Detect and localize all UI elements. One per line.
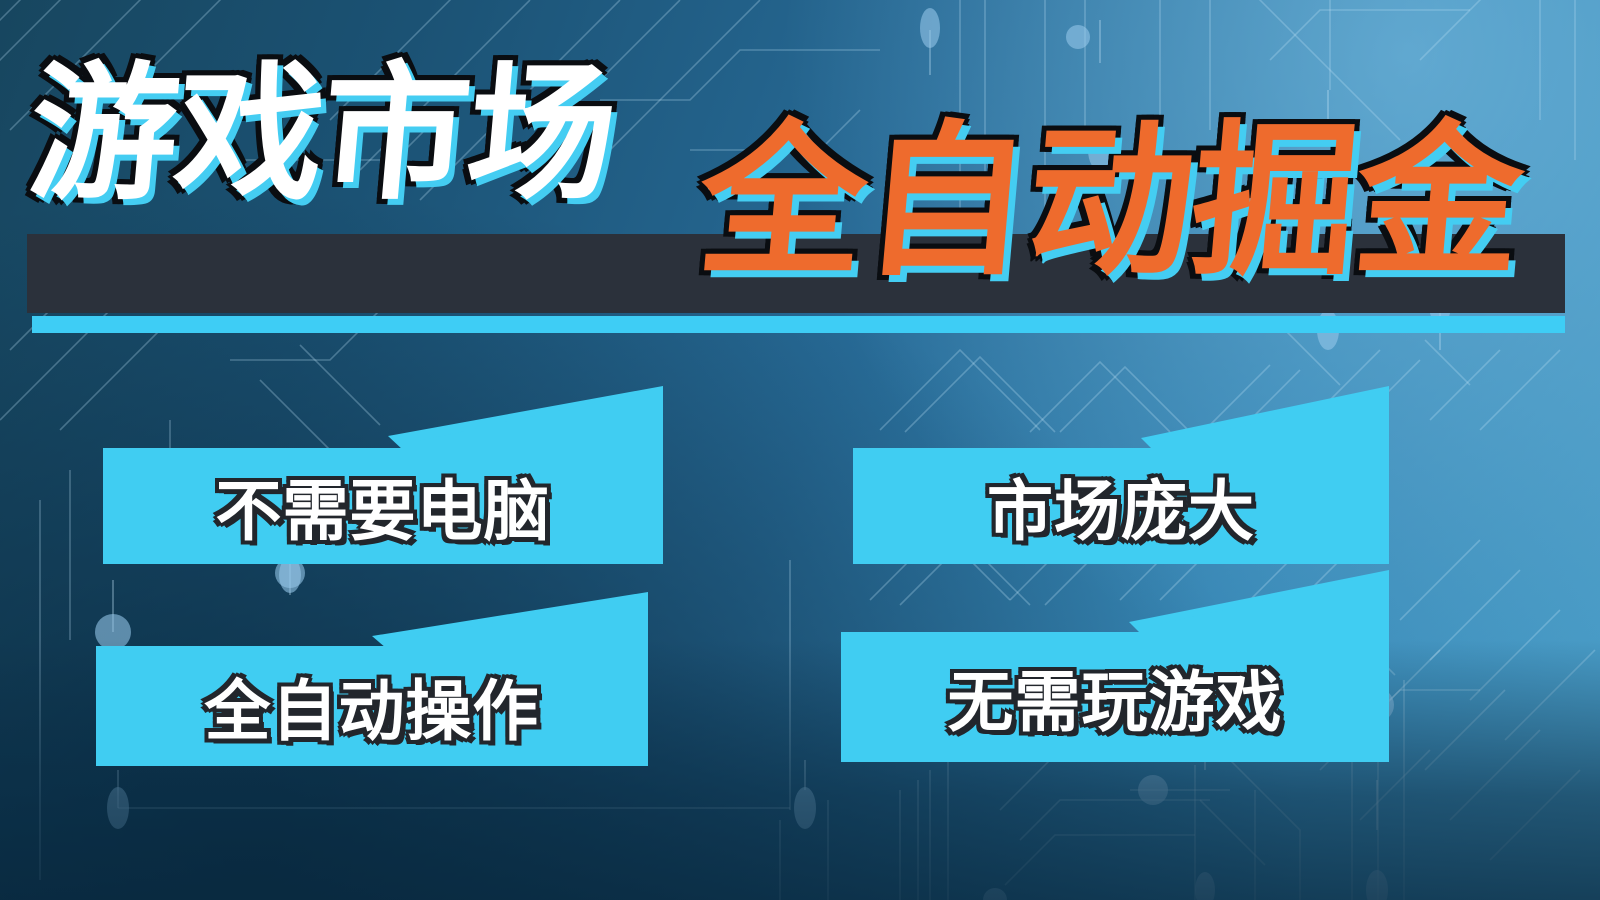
feature-label: 无需玩游戏 — [948, 649, 1283, 745]
feature-banner-2[interactable]: 市场庞大 — [853, 448, 1389, 564]
poster-canvas: 游戏市场 全自动掘金 不需要电脑 市场庞大 全自动操作 无需玩游戏 — [0, 0, 1600, 900]
feature-banner-3[interactable]: 全自动操作 — [96, 646, 648, 766]
headline-group: 游戏市场 全自动掘金 — [0, 0, 1600, 340]
feature-label: 全自动操作 — [205, 658, 540, 754]
feature-label: 不需要电脑 — [216, 458, 551, 554]
feature-banner-4[interactable]: 无需玩游戏 — [841, 632, 1389, 762]
feature-banner-1[interactable]: 不需要电脑 — [103, 448, 663, 564]
headline-accent-text: 全自动掘金 — [693, 120, 1528, 286]
feature-label: 市场庞大 — [987, 458, 1255, 554]
headline-primary-text: 游戏市场 — [24, 60, 621, 208]
